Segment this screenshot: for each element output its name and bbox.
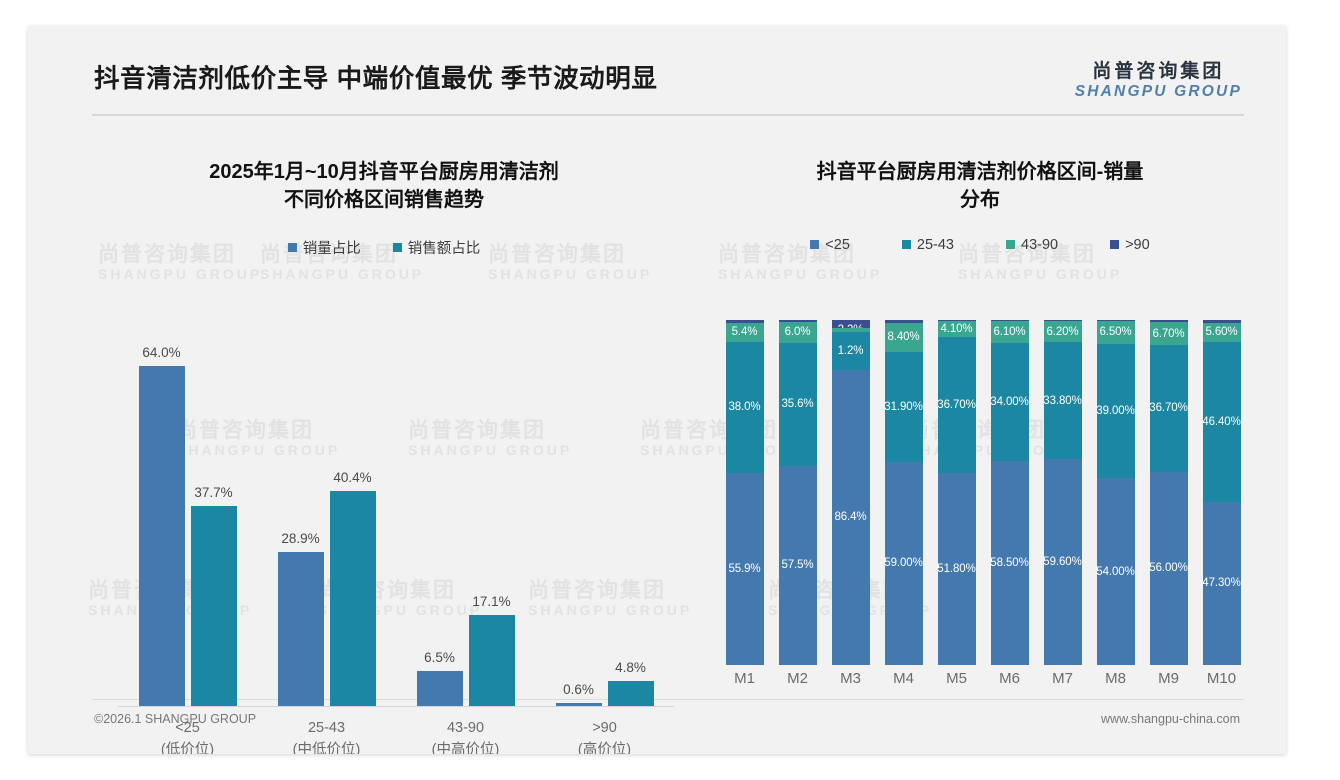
bar-column[interactable]: 40.4%	[330, 334, 376, 706]
stack-segment-value-label: 46.40%	[1203, 416, 1241, 428]
stacked-bar-column[interactable]: 0.80%5.60%46.40%47.30%	[1195, 320, 1248, 665]
legend-label: 销售额占比	[408, 237, 481, 258]
x-tick-sublabel: (中高价位)	[396, 740, 535, 754]
chart-plot-right: 0.9%5.4%38.0%55.9%0.6%6.0%35.6%57.5%2.2%…	[718, 298, 1248, 754]
stacked-bar[interactable]: 0.80%5.60%46.40%47.30%	[1203, 320, 1241, 665]
stack-segment[interactable]: 54.00%	[1097, 478, 1135, 665]
chart-panel-monthly-share: 抖音平台厨房用清洁剂价格区间-销量 分布 <2525-4343-90>90 0.…	[700, 130, 1260, 710]
stack-segment-value-label: 55.9%	[728, 563, 760, 575]
x-tick-label: <25(低价位)	[118, 710, 257, 754]
stack-segment[interactable]: 56.00%	[1150, 472, 1188, 665]
stack-segment-value-label: 59.00%	[885, 557, 923, 569]
stacked-bar-column[interactable]: 0.40%6.10%34.00%58.50%	[983, 320, 1036, 665]
stack-segment-value-label: 34.00%	[991, 396, 1029, 408]
stack-segment[interactable]: 6.10%	[991, 321, 1029, 342]
bar-rect[interactable]	[278, 552, 324, 706]
month-tick-label: M2	[771, 670, 824, 700]
bar-rect[interactable]	[469, 615, 515, 706]
stacked-bar[interactable]: 0.30%6.50%39.00%54.00%	[1097, 320, 1135, 665]
legend-swatch-icon	[810, 240, 819, 249]
stack-segment[interactable]: 5.4%	[726, 323, 764, 342]
month-tick-label: M4	[877, 670, 930, 700]
stacked-bars: 0.9%5.4%38.0%55.9%0.6%6.0%35.6%57.5%2.2%…	[718, 320, 1248, 665]
stack-segment[interactable]: 47.30%	[1203, 502, 1241, 665]
stack-segment[interactable]: 6.50%	[1097, 321, 1135, 343]
stack-segment-value-label: 57.5%	[781, 559, 813, 571]
stack-segment-value-label: 86.4%	[834, 511, 866, 523]
stack-segment[interactable]: 6.20%	[1044, 321, 1082, 342]
chart-title-left-line1: 2025年1月~10月抖音平台厨房用清洁剂	[124, 158, 644, 186]
stack-segment-value-label: 33.80%	[1044, 395, 1082, 407]
stack-segment[interactable]: 5.60%	[1203, 323, 1241, 342]
stack-segment-value-label: 6.0%	[785, 326, 811, 338]
stack-segment-value-label: 8.40%	[887, 331, 919, 343]
stack-segment-value-label: 38.0%	[728, 401, 760, 413]
bar-column[interactable]: 0.6%	[556, 334, 602, 706]
stack-segment[interactable]: 33.80%	[1044, 342, 1082, 459]
stacked-bar-column[interactable]: 0.60%6.70%36.70%56.00%	[1142, 320, 1195, 665]
month-tick-label: M1	[718, 670, 771, 700]
x-tick-range: 25-43	[257, 718, 396, 740]
bar-column[interactable]: 4.8%	[608, 334, 654, 706]
month-tick-label: M10	[1195, 670, 1248, 700]
bar-value-label: 64.0%	[142, 345, 180, 360]
bar-column[interactable]: 6.5%	[417, 334, 463, 706]
stack-segment[interactable]: 39.00%	[1097, 344, 1135, 479]
stack-segment[interactable]: 2.2%	[832, 320, 870, 328]
bar-value-label: 4.8%	[615, 660, 646, 675]
stacked-bar-column[interactable]: 0.30%6.50%39.00%54.00%	[1089, 320, 1142, 665]
stack-segment-value-label: 6.70%	[1152, 328, 1184, 340]
x-tick-label: >90(高价位)	[535, 710, 674, 754]
stacked-bar[interactable]: 0.30%6.20%33.80%59.60%	[1044, 320, 1082, 665]
stack-segment[interactable]: 38.0%	[726, 342, 764, 473]
stacked-bar[interactable]: 0.80%8.40%31.90%59.00%	[885, 320, 923, 665]
legend-swatch-icon	[393, 243, 402, 252]
chart-plot-left: 64.0%37.7%28.9%40.4%6.5%17.1%0.6%4.8% <2…	[118, 298, 674, 754]
logo-chinese-text: 尚普咨询集团	[1075, 62, 1242, 82]
stacked-bar-column[interactable]: 0.30%6.20%33.80%59.60%	[1036, 320, 1089, 665]
stack-segment-value-label: 36.70%	[938, 399, 976, 411]
stack-segment-value-label: 47.30%	[1203, 577, 1241, 589]
stack-segment-value-label: 35.6%	[781, 398, 813, 410]
legend-item-right-0[interactable]: <25	[810, 237, 850, 253]
stack-segment-value-label: 56.00%	[1150, 562, 1188, 574]
stack-segment[interactable]: 59.60%	[1044, 459, 1082, 665]
slide-header: 抖音清洁剂低价主导 中端价值最优 季节波动明显 尚普咨询集团 SHANGPU G…	[28, 26, 1286, 118]
stack-segment[interactable]: 6.70%	[1150, 322, 1188, 345]
chart-title-right-line2: 分布	[732, 186, 1228, 214]
bar-rect[interactable]	[191, 506, 237, 706]
stack-segment-value-label: 1.2%	[838, 345, 864, 357]
chart-legend-left: 销量占比销售额占比	[82, 237, 686, 258]
bar-column[interactable]: 37.7%	[191, 334, 237, 706]
x-tick-range: <25	[118, 718, 257, 740]
bar-rect[interactable]	[330, 491, 376, 706]
stack-segment[interactable]: 36.70%	[938, 337, 976, 473]
legend-swatch-icon	[288, 243, 297, 252]
bar-value-label: 40.4%	[333, 470, 371, 485]
legend-label: 25-43	[917, 237, 954, 253]
x-axis-line-left	[118, 706, 674, 707]
stack-segment[interactable]: 36.70%	[1150, 345, 1188, 472]
stack-segment-value-label: 6.10%	[993, 326, 1025, 338]
stacked-bar[interactable]: 0.40%4.10%36.70%51.80%	[938, 320, 976, 665]
month-tick-label: M9	[1142, 670, 1195, 700]
stack-segment[interactable]: 57.5%	[779, 466, 817, 665]
month-tick-label: M7	[1036, 670, 1089, 700]
month-tick-label: M6	[983, 670, 1036, 700]
bar-value-label: 0.6%	[563, 682, 594, 697]
stacked-bar-column[interactable]: 0.6%6.0%35.6%57.5%	[771, 320, 824, 665]
stack-segment[interactable]: 8.40%	[885, 323, 923, 352]
stacked-bar-column[interactable]: 0.80%8.40%31.90%59.00%	[877, 320, 930, 665]
page-title: 抖音清洁剂低价主导 中端价值最优 季节波动明显	[94, 58, 657, 95]
chart-title-right-line1: 抖音平台厨房用清洁剂价格区间-销量	[732, 158, 1228, 186]
month-tick-label: M5	[930, 670, 983, 700]
chart-title-left: 2025年1月~10月抖音平台厨房用清洁剂 不同价格区间销售趋势	[82, 130, 686, 215]
bar-group: 64.0%37.7%	[118, 334, 257, 706]
bar-group: 28.9%40.4%	[257, 334, 396, 706]
legend-label: >90	[1125, 237, 1150, 253]
stack-segment[interactable]: 58.50%	[991, 461, 1029, 665]
bar-column[interactable]: 28.9%	[278, 334, 324, 706]
stack-segment-value-label: 51.80%	[938, 563, 976, 575]
stack-segment[interactable]: 34.00%	[991, 343, 1029, 461]
month-tick-label: M8	[1089, 670, 1142, 700]
bar-value-label: 28.9%	[281, 531, 319, 546]
month-tick-label: M3	[824, 670, 877, 700]
stack-segment[interactable]: 51.80%	[938, 473, 976, 665]
legend-item-right-2[interactable]: 43-90	[1006, 237, 1058, 253]
stack-segment-value-label: 31.90%	[885, 401, 923, 413]
bar-group: 6.5%17.1%	[396, 334, 535, 706]
legend-swatch-icon	[1006, 240, 1015, 249]
stacked-bar[interactable]: 0.60%6.70%36.70%56.00%	[1150, 320, 1188, 665]
chart-legend-right: <2525-4343-90>90	[700, 237, 1260, 253]
chart-panel-price-band-trend: 2025年1月~10月抖音平台厨房用清洁剂 不同价格区间销售趋势 销量占比销售额…	[82, 130, 686, 710]
stack-segment[interactable]: 46.40%	[1203, 342, 1241, 502]
legend-item-right-1[interactable]: 25-43	[902, 237, 954, 253]
stack-segment-value-label: 58.50%	[991, 557, 1029, 569]
stack-segment[interactable]: 55.9%	[726, 473, 764, 665]
stack-segment-value-label: 5.60%	[1205, 326, 1237, 338]
stack-segment[interactable]: 35.6%	[779, 343, 817, 466]
stacked-bar[interactable]: 0.6%6.0%35.6%57.5%	[779, 320, 817, 665]
legend-item-left-1[interactable]: 销售额占比	[393, 237, 481, 258]
slide-canvas: 尚普咨询集团 SHANGPU GROUP 尚普咨询集团 SHANGPU GROU…	[28, 26, 1286, 754]
stacked-bar[interactable]: 0.40%6.10%34.00%58.50%	[991, 320, 1029, 665]
chart-title-left-line2: 不同价格区间销售趋势	[124, 186, 644, 214]
bar-group: 0.6%4.8%	[535, 334, 674, 706]
legend-label: 销量占比	[303, 237, 361, 258]
bar-value-label: 6.5%	[424, 650, 455, 665]
x-tick-label: 43-90(中高价位)	[396, 710, 535, 754]
stack-segment-value-label: 39.00%	[1097, 405, 1135, 417]
stack-segment-value-label: 4.10%	[940, 323, 972, 335]
stack-segment[interactable]: 4.10%	[938, 321, 976, 336]
company-logo: 尚普咨询集团 SHANGPU GROUP	[1075, 62, 1242, 100]
stacked-bar-column[interactable]: 0.9%5.4%38.0%55.9%	[718, 320, 771, 665]
x-axis-labels-left: <25(低价位)25-43(中低价位)43-90(中高价位)>90(高价位)	[118, 710, 674, 754]
legend-item-right-3[interactable]: >90	[1110, 237, 1150, 253]
x-tick-sublabel: (高价位)	[535, 740, 674, 754]
bar-value-label: 37.7%	[194, 485, 232, 500]
legend-swatch-icon	[902, 240, 911, 249]
stack-segment[interactable]: 6.0%	[779, 322, 817, 343]
legend-label: 43-90	[1021, 237, 1058, 253]
bar-column[interactable]: 17.1%	[469, 334, 515, 706]
stack-segment[interactable]: 59.00%	[885, 462, 923, 665]
bar-rect[interactable]	[139, 366, 185, 706]
x-tick-range: 43-90	[396, 718, 535, 740]
logo-english-text: SHANGPU GROUP	[1075, 84, 1242, 100]
bar-rect[interactable]	[417, 671, 463, 706]
stacked-bar-column[interactable]: 2.2%1.2%1.2%86.4%	[824, 320, 877, 665]
legend-label: <25	[825, 237, 850, 253]
legend-swatch-icon	[1110, 240, 1119, 249]
bar-column[interactable]: 64.0%	[139, 334, 185, 706]
x-tick-label: 25-43(中低价位)	[257, 710, 396, 754]
stacked-bar[interactable]: 2.2%1.2%1.2%86.4%	[832, 320, 870, 665]
bar-groups: 64.0%37.7%28.9%40.4%6.5%17.1%0.6%4.8%	[118, 334, 674, 706]
bar-value-label: 17.1%	[472, 594, 510, 609]
stacked-bar[interactable]: 0.9%5.4%38.0%55.9%	[726, 320, 764, 665]
stack-segment-value-label: 6.20%	[1046, 326, 1078, 338]
bar-rect[interactable]	[608, 681, 654, 707]
stack-segment-value-label: 54.00%	[1097, 566, 1135, 578]
x-tick-sublabel: (低价位)	[118, 740, 257, 754]
stack-segment[interactable]: 1.2%	[832, 332, 870, 370]
stack-segment[interactable]: 86.4%	[832, 370, 870, 665]
stack-segment[interactable]: 31.90%	[885, 352, 923, 462]
legend-item-left-0[interactable]: 销量占比	[288, 237, 361, 258]
stack-segment-value-label: 59.60%	[1044, 556, 1082, 568]
stack-segment-value-label: 6.50%	[1099, 326, 1131, 338]
stack-segment-value-label: 5.4%	[732, 326, 758, 338]
stack-segment-value-label: 36.70%	[1150, 402, 1188, 414]
header-divider	[92, 114, 1244, 116]
x-axis-labels-right: M1M2M3M4M5M6M7M8M9M10	[718, 670, 1248, 700]
x-tick-range: >90	[535, 718, 674, 740]
x-tick-sublabel: (中低价位)	[257, 740, 396, 754]
stacked-bar-column[interactable]: 0.40%4.10%36.70%51.80%	[930, 320, 983, 665]
chart-title-right: 抖音平台厨房用清洁剂价格区间-销量 分布	[700, 130, 1260, 215]
